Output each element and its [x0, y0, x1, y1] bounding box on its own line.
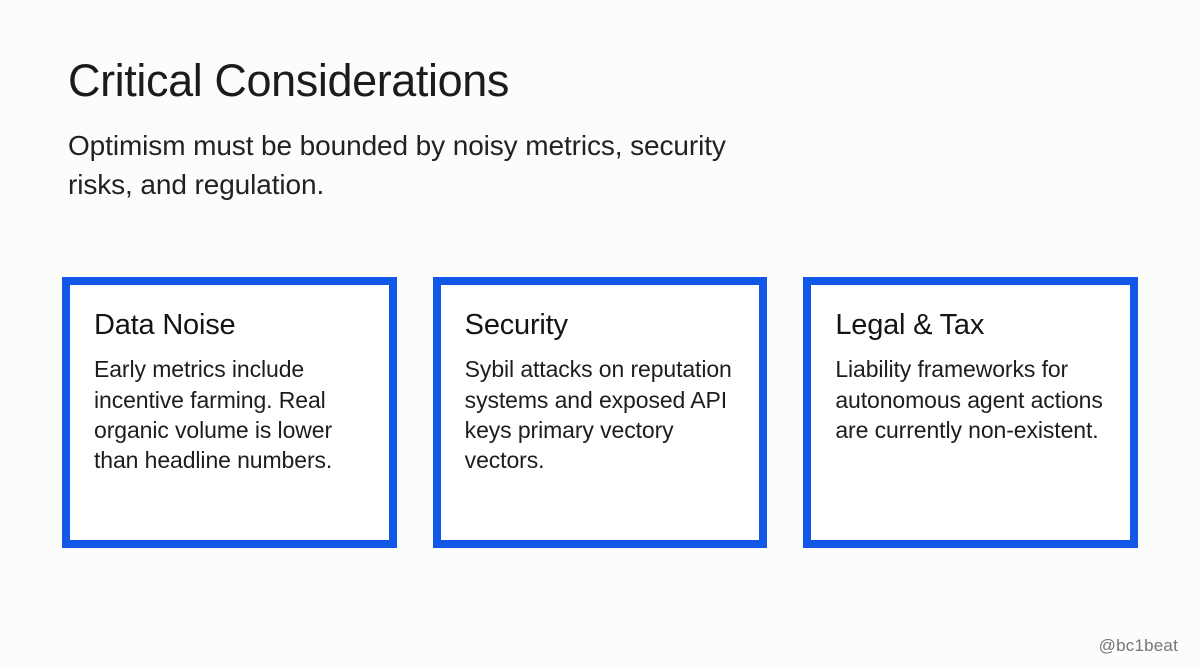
slide-header: Critical Considerations Optimism must be…: [68, 56, 968, 205]
card-data-noise: Data Noise Early metrics include incenti…: [62, 277, 397, 548]
card-security: Security Sybil attacks on reputation sys…: [433, 277, 768, 548]
card-body: Sybil attacks on reputation systems and …: [465, 354, 738, 475]
slide-canvas: Critical Considerations Optimism must be…: [0, 0, 1200, 670]
page-title: Critical Considerations: [68, 56, 968, 106]
consideration-cards-row: Data Noise Early metrics include incenti…: [62, 277, 1138, 548]
card-body: Liability frameworks for autonomous agen…: [835, 354, 1108, 445]
card-body: Early metrics include incentive farming.…: [94, 354, 367, 475]
card-title: Security: [465, 309, 738, 342]
slide-subtitle: Optimism must be bounded by noisy metric…: [68, 126, 748, 206]
card-title: Data Noise: [94, 309, 367, 342]
watermark-handle: @bc1beat: [1099, 636, 1178, 656]
card-legal-and-tax: Legal & Tax Liability frameworks for aut…: [803, 277, 1138, 548]
card-title: Legal & Tax: [835, 309, 1108, 342]
